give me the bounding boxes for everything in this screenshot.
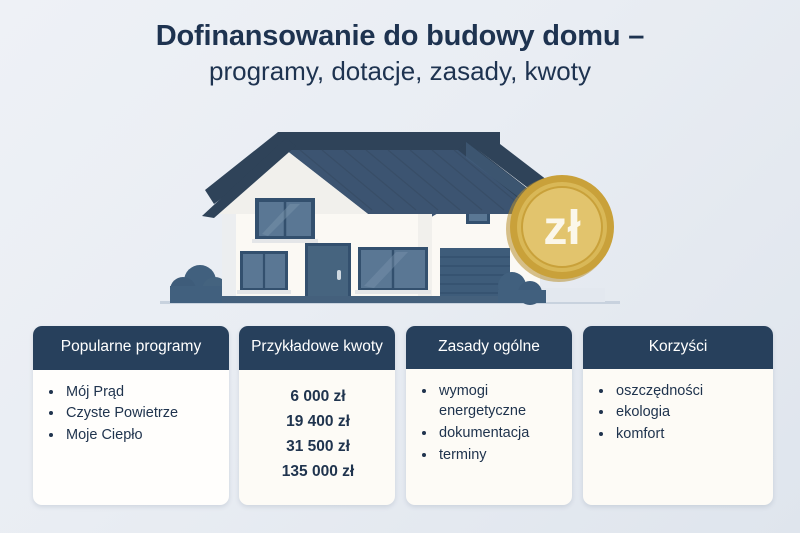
card-heading: Zasady ogólne <box>406 326 572 369</box>
page-title: Dofinansowanie do budowy domu – programy… <box>0 20 800 88</box>
card-body: 6 000 zł 19 400 zł 31 500 zł 135 000 zł <box>239 370 395 494</box>
list-item: Mój Prąd <box>64 382 215 403</box>
window-lower-right <box>355 247 431 294</box>
amount-value: 6 000 zł <box>255 384 381 409</box>
card-heading: Korzyści <box>583 326 773 369</box>
list-item: oszczędności <box>614 381 759 402</box>
card-heading: Popularne programy <box>33 326 229 370</box>
amount-value: 135 000 zł <box>255 459 381 484</box>
list-item: ekologia <box>614 402 759 423</box>
card-list: Mój Prąd Czyste Powietrze Moje Ciepło <box>49 382 215 446</box>
card-body: Mój Prąd Czyste Powietrze Moje Ciepło <box>33 370 229 457</box>
window-lower-left <box>237 251 291 294</box>
list-item: Moje Ciepło <box>64 425 215 446</box>
coin-label: zł <box>543 202 580 255</box>
amount-value: 19 400 zł <box>255 409 381 434</box>
card-body: wymogi energetyczne dokumentacja terminy <box>406 369 572 476</box>
card-przykladowe-kwoty[interactable]: Przykładowe kwoty 6 000 zł 19 400 zł 31 … <box>239 326 395 505</box>
card-heading: Przykładowe kwoty <box>239 326 395 370</box>
card-popularne-programy[interactable]: Popularne programy Mój Prąd Czyste Powie… <box>33 326 229 505</box>
list-item: dokumentacja <box>437 423 558 444</box>
card-list: oszczędności ekologia komfort <box>599 381 759 445</box>
amount-value: 31 500 zł <box>255 434 381 459</box>
title-line-2: programy, dotacje, zasady, kwoty <box>0 55 800 88</box>
list-item: terminy <box>437 445 558 466</box>
list-item: wymogi energetyczne <box>437 381 558 422</box>
list-item: komfort <box>614 424 759 445</box>
house-with-coin-svg: zł <box>0 118 800 313</box>
card-list: wymogi energetyczne dokumentacja terminy <box>422 381 558 465</box>
cards-row: Popularne programy Mój Prąd Czyste Powie… <box>0 326 800 508</box>
card-body: oszczędności ekologia komfort <box>583 369 773 456</box>
bush-left-icon <box>170 265 228 303</box>
coin-zloty-icon: zł <box>506 175 614 282</box>
infographic-page: Dofinansowanie do budowy domu – programy… <box>0 0 800 533</box>
house-foundation <box>222 296 540 303</box>
front-door <box>305 243 351 302</box>
house-illustration: zł <box>0 118 800 313</box>
card-zasady-ogolne[interactable]: Zasady ogólne wymogi energetyczne dokume… <box>406 326 572 505</box>
window-attic <box>252 198 318 243</box>
list-item: Czyste Powietrze <box>64 403 215 424</box>
title-line-1: Dofinansowanie do budowy domu – <box>0 20 800 53</box>
card-korzysci[interactable]: Korzyści oszczędności ekologia komfort <box>583 326 773 505</box>
